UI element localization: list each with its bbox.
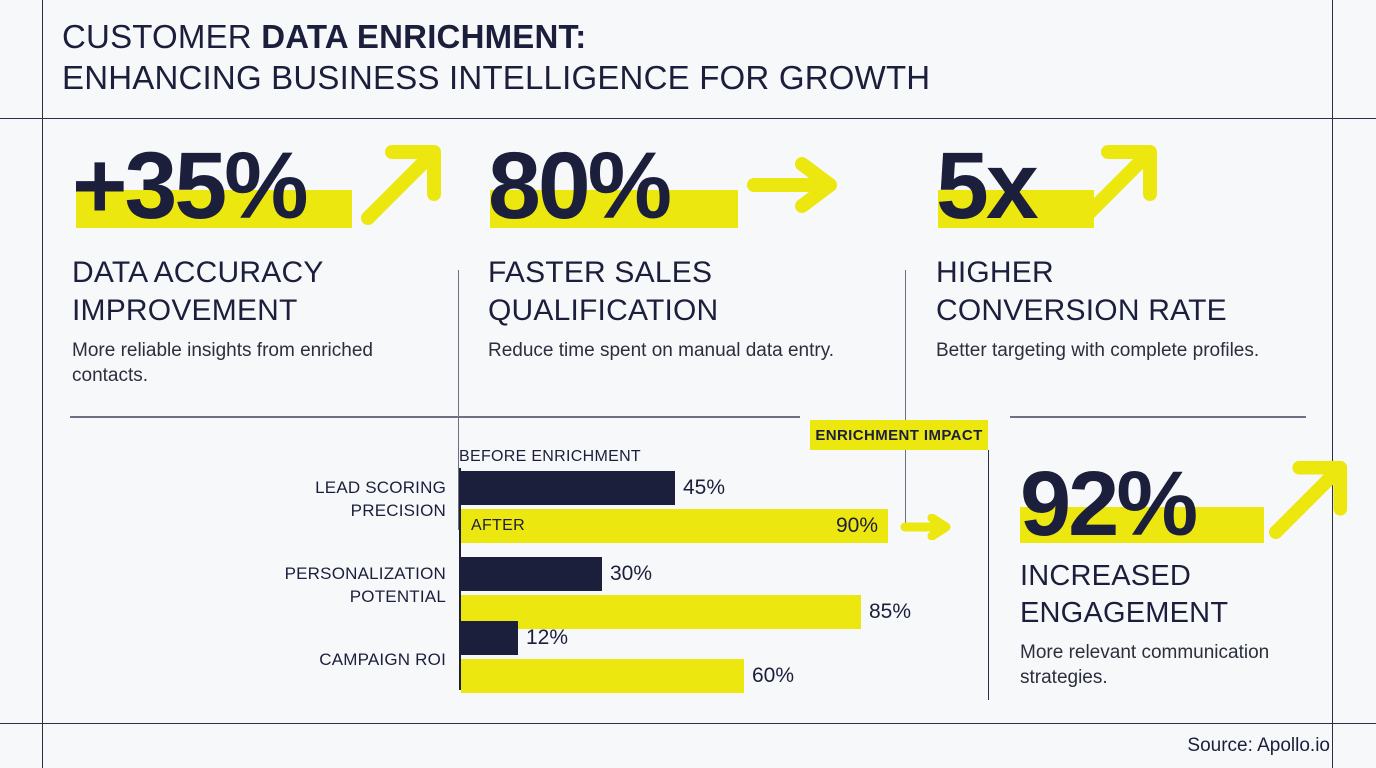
chart-bar-value: 30% [610, 557, 652, 591]
chart-category-label-line-2: PRECISION [266, 499, 446, 522]
chart-bar-before: 12% [461, 621, 518, 655]
stat-card-higher-conversion: 5x HIGHER CONVERSION RATE Better targeti… [936, 132, 1326, 404]
chart-bar-value: 12% [526, 621, 568, 655]
stat-headline: DATA ACCURACY IMPROVEMENT [72, 254, 450, 330]
chart-bar-value: 45% [683, 471, 725, 505]
stat-headline-line-2: IMPROVEMENT [72, 292, 450, 330]
stat-headline: FASTER SALES QUALIFICATION [488, 254, 888, 330]
stat-value-wrap: 5x [936, 132, 1326, 244]
chart-bar-value: 90% [836, 509, 878, 543]
stat-headline: HIGHER CONVERSION RATE [936, 254, 1326, 330]
chart-after-tag: AFTER [471, 509, 525, 543]
chart-bar-before: 45% [461, 471, 675, 505]
stat-value-wrap: +35% [72, 132, 450, 244]
stat-headline-line-2: CONVERSION RATE [936, 292, 1326, 330]
section-divider-right [1010, 416, 1306, 418]
stat-headline-line-1: INCREASED [1020, 558, 1340, 595]
stat-headline-line-2: ENGAGEMENT [1020, 595, 1340, 632]
bottom-section-divider [988, 450, 989, 700]
enrichment-bar-chart: BEFORE ENRICHMENT LEAD SCORING PRECISION… [0, 440, 990, 705]
stat-headline-line-1: DATA ACCURACY [72, 254, 450, 292]
stat-subtext: More relevant communication strategies. [1020, 640, 1340, 690]
chart-series-caption: BEFORE ENRICHMENT [459, 448, 641, 466]
stat-card-faster-sales: 80% FASTER SALES QUALIFICATION Reduce ti… [488, 132, 888, 404]
frame-rule-bottom [0, 723, 1376, 724]
chart-bar-value: 60% [752, 659, 794, 693]
stat-value-wrap: 92% [1020, 452, 1340, 552]
stat-value: 5x [936, 132, 1036, 240]
title-normal: CUSTOMER [62, 18, 261, 55]
chart-bar-after: 60% [461, 659, 744, 693]
stat-card-data-accuracy: +35% DATA ACCURACY IMPROVEMENT More reli… [72, 132, 450, 404]
title-line-1: CUSTOMER DATA ENRICHMENT: [62, 16, 1242, 57]
stat-subtext: Better targeting with complete profiles. [936, 338, 1326, 363]
chart-bar-after: 85% [461, 595, 861, 629]
chart-category-label: LEAD SCORING PRECISION [266, 476, 446, 522]
stats-row: +35% DATA ACCURACY IMPROVEMENT More reli… [0, 132, 1376, 404]
stat-headline-line-1: HIGHER [936, 254, 1326, 292]
source-credit: Source: Apollo.io [1040, 735, 1330, 757]
stat-headline-line-2: QUALIFICATION [488, 292, 888, 330]
frame-rule-top [0, 118, 1376, 119]
stat-value: 92% [1020, 452, 1195, 556]
chart-category-label-line-1: LEAD SCORING [266, 476, 446, 499]
chart-category-label: PERSONALIZATION POTENTIAL [266, 562, 446, 608]
stat-headline-line-1: FASTER SALES [488, 254, 888, 292]
chart-bar-value: 85% [869, 595, 911, 629]
arrow-up-right-icon [1268, 456, 1352, 540]
title-line-2: ENHANCING BUSINESS INTELLIGENCE FOR GROW… [62, 57, 1242, 98]
arrow-right-icon [900, 514, 956, 540]
stat-value-wrap: 80% [488, 132, 888, 244]
stat-headline: INCREASED ENGAGEMENT [1020, 558, 1340, 632]
chart-category-label-line-1: CAMPAIGN ROI [266, 648, 446, 671]
chart-category-label-line-1: PERSONALIZATION [266, 562, 446, 585]
stat-value: +35% [72, 132, 306, 240]
chart-bar-before: 30% [461, 557, 602, 591]
chart-bar-after: AFTER 90% [461, 509, 888, 543]
title-bold: DATA ENRICHMENT: [261, 18, 586, 55]
chart-category-label: CAMPAIGN ROI [266, 648, 446, 671]
chart-category-label-line-2: POTENTIAL [266, 585, 446, 608]
arrow-up-right-icon [360, 140, 446, 226]
stat-subtext: More reliable insights from enriched con… [72, 338, 450, 388]
section-divider-left [70, 416, 800, 418]
arrow-up-right-icon [1076, 140, 1162, 226]
stat-card-increased-engagement: 92% INCREASED ENGAGEMENT More relevant c… [1020, 452, 1340, 690]
infographic-canvas: CUSTOMER DATA ENRICHMENT: ENHANCING BUSI… [0, 0, 1376, 768]
stat-value: 80% [488, 132, 669, 240]
arrow-right-icon [746, 154, 842, 216]
stat-subtext: Reduce time spent on manual data entry. [488, 338, 888, 363]
page-title: CUSTOMER DATA ENRICHMENT: ENHANCING BUSI… [62, 16, 1242, 98]
